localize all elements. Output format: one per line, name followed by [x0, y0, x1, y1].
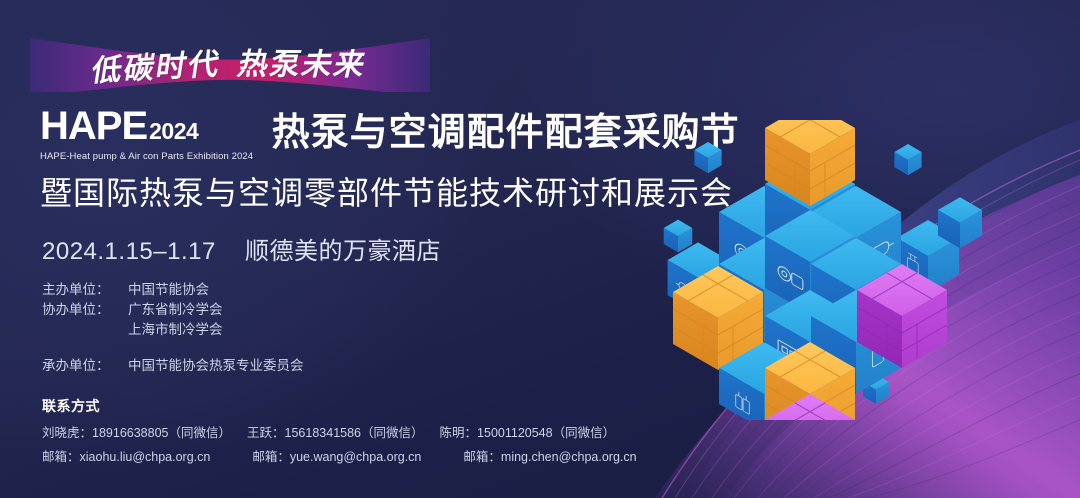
contact-email-item: 邮箱：xiaohu.liu@chpa.org.cn [42, 446, 210, 468]
organizer-value: 广东省制冷学会 [128, 300, 223, 320]
event-dateline: 2024.1.15–1.17 顺德美的万豪酒店 [42, 231, 441, 266]
contact-name: 王跃： [247, 426, 285, 440]
email-label: 邮箱： [42, 450, 80, 464]
hape-logo-lockup: HAPE 2024 HAPE-Heat pump & Air con Parts… [40, 106, 253, 162]
slogan-text: 低碳时代 热泵未来 [26, 30, 434, 96]
contact-name: 刘晓虎： [42, 426, 92, 440]
event-dates: 2024.1.15–1.17 [42, 238, 216, 265]
organizer-row: 协办单位： 广东省制冷学会 [42, 300, 304, 320]
floating-cube [664, 220, 693, 253]
floating-cube [694, 142, 721, 173]
isometric-cube-cluster-artwork [660, 120, 1020, 420]
contact-note: （同微信） [169, 426, 232, 440]
slogan-banner: 低碳时代 热泵未来 [30, 34, 430, 92]
contact-email-item: 邮箱：yue.wang@chpa.org.cn [252, 446, 421, 468]
organizer-value: 中国节能协会 [128, 280, 209, 300]
email-address: xiaohu.liu@chpa.org.cn [80, 450, 211, 464]
hape-brand-subtitle: HAPE-Heat pump & Air con Parts Exhibitio… [40, 151, 253, 162]
email-address: ming.chen@chpa.org.cn [501, 450, 637, 464]
headline-subtitle-cn: 暨国际热泵与空调零部件节能技术研讨和展示会 [40, 168, 733, 214]
organizer-row: 主办单位： 中国节能协会 [42, 280, 304, 300]
slogan-left: 低碳时代 [89, 39, 225, 90]
contact-person: 王跃：15618341586（同微信） [247, 422, 424, 444]
event-venue: 顺德美的万豪酒店 [245, 238, 441, 265]
email-label: 邮箱： [252, 450, 290, 464]
organizers-block: 主办单位： 中国节能协会 协办单位： 广东省制冷学会 上海市制冷学会 承办单位：… [42, 280, 304, 376]
floating-cube [894, 144, 921, 175]
contact-title: 联系方式 [42, 396, 637, 416]
contact-phone: 15001120548 [477, 426, 553, 440]
hape-logo-row: HAPE 2024 [40, 106, 253, 146]
contact-phone: 18916638805 [92, 426, 168, 440]
organizer-label [42, 320, 128, 340]
organizer-row: 承办单位： 中国节能协会热泵专业委员会 [42, 356, 304, 376]
poster-canvas: 低碳时代 热泵未来 HAPE 2024 HAPE-Heat pump & Air… [0, 0, 1080, 498]
slogan-right: 热泵未来 [234, 39, 372, 84]
contact-email-item: 邮箱：ming.chen@chpa.org.cn [463, 446, 636, 468]
email-address: yue.wang@chpa.org.cn [290, 450, 422, 464]
organizer-label: 承办单位： [42, 356, 128, 376]
hape-brand: HAPE [40, 106, 147, 146]
organizer-value: 上海市制冷学会 [128, 320, 223, 340]
contact-person: 陈明：15001120548（同微信） [440, 422, 616, 444]
organizer-label: 协办单位： [42, 300, 128, 320]
organizer-row: 上海市制冷学会 [42, 320, 304, 340]
headline-block: HAPE 2024 HAPE-Heat pump & Air con Parts… [40, 106, 740, 162]
contact-note: （同微信） [361, 426, 424, 440]
contact-note: （同微信） [553, 426, 616, 440]
contact-emails-line: 邮箱：xiaohu.liu@chpa.org.cn 邮箱：yue.wang@ch… [42, 446, 637, 468]
contact-person: 刘晓虎：18916638805（同微信） [42, 422, 231, 444]
hape-year: 2024 [149, 120, 198, 143]
contact-phones-line: 刘晓虎：18916638805（同微信） 王跃：15618341586（同微信）… [42, 422, 637, 444]
contact-name: 陈明： [440, 426, 478, 440]
email-label: 邮箱： [463, 450, 501, 464]
organizer-label: 主办单位： [42, 280, 128, 300]
contact-phone: 15618341586 [285, 426, 361, 440]
contact-block: 联系方式 刘晓虎：18916638805（同微信） 王跃：15618341586… [42, 396, 637, 468]
organizer-value: 中国节能协会热泵专业委员会 [128, 356, 304, 376]
